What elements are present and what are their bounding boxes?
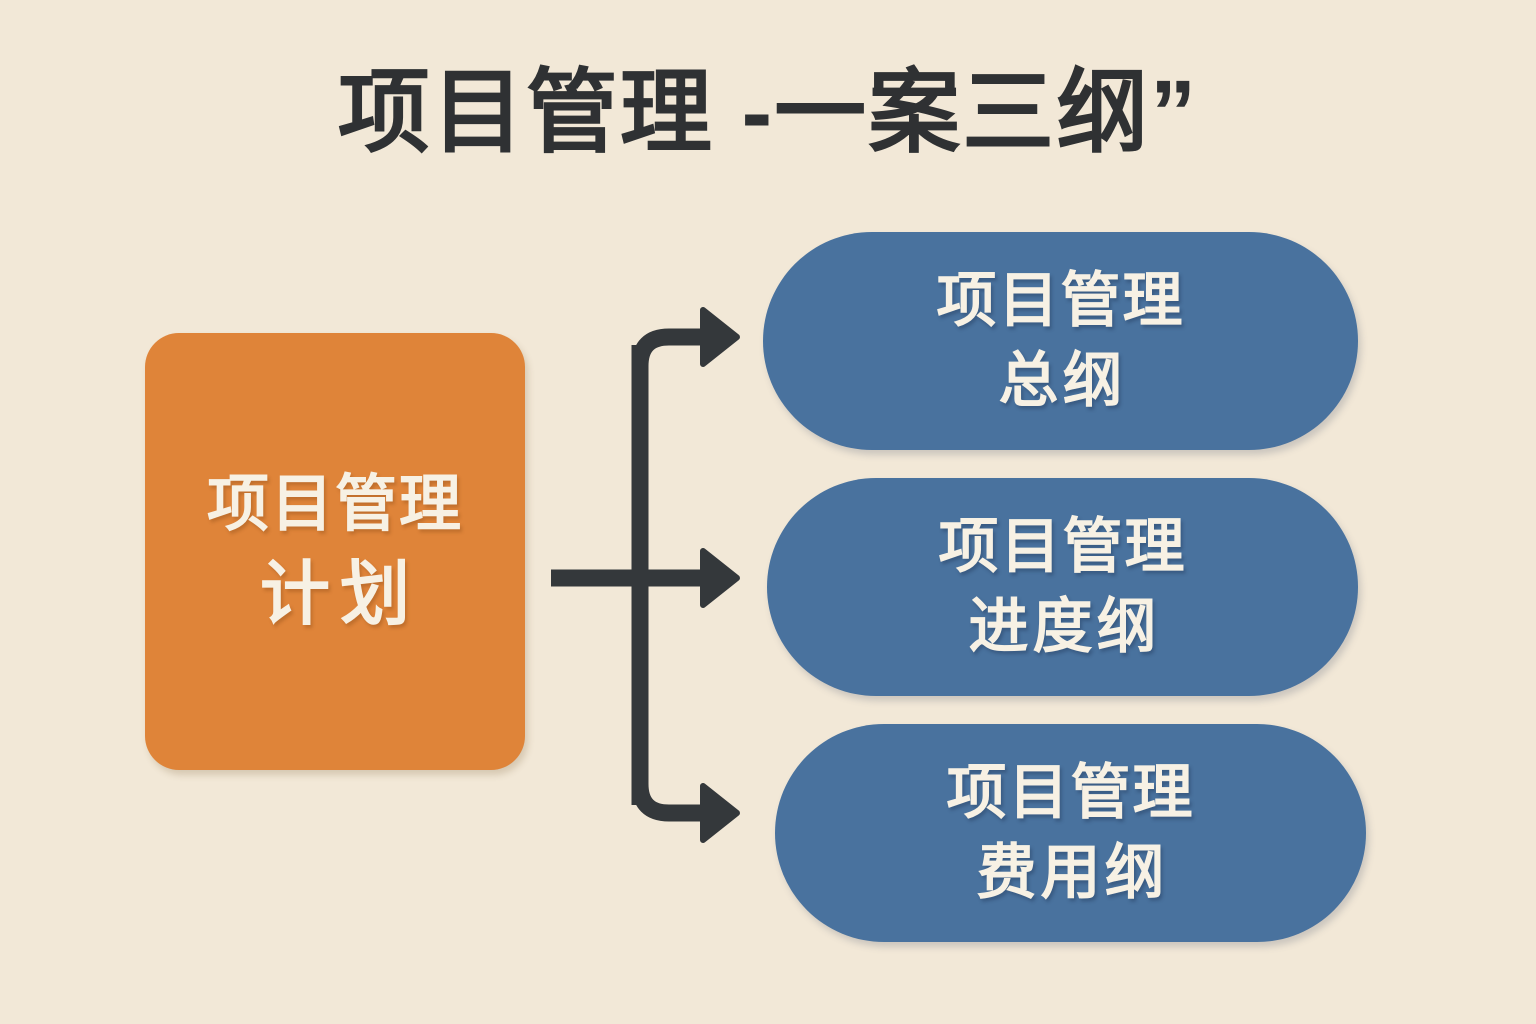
target-node-project-management-schedule-outline[interactable]: 项目管理 进度纲 — [767, 478, 1358, 696]
target-node-project-management-general-outline[interactable]: 项目管理 总纲 — [763, 232, 1358, 450]
target-node-label-line-1: 项目管理 — [939, 507, 1187, 587]
connector-branch-bottom — [640, 784, 706, 813]
arrowhead-bottom-icon — [703, 786, 737, 840]
target-node-label-line-1: 项目管理 — [947, 753, 1195, 833]
source-node-label-line-2: 计划 — [250, 547, 420, 641]
diagram-canvas: 项目管理 -一案三纲” 项目管理 计划 项目管理 总纲 项目管理 — [0, 0, 1536, 1024]
arrowhead-middle-icon — [703, 551, 737, 605]
connector-branch-top — [640, 337, 706, 366]
arrowhead-top-icon — [703, 310, 737, 364]
target-node-label-line-2: 进度纲 — [965, 587, 1161, 667]
target-node-project-management-cost-outline[interactable]: 项目管理 费用纲 — [775, 724, 1366, 942]
target-node-label-line-2: 总纲 — [995, 341, 1127, 421]
source-node-project-management-plan[interactable]: 项目管理 计划 — [145, 333, 525, 770]
target-node-label-line-1: 项目管理 — [937, 261, 1185, 341]
source-node-label-line-1: 项目管理 — [207, 463, 463, 547]
target-node-label-line-2: 费用纲 — [973, 833, 1169, 913]
page-title: 项目管理 -一案三纲” — [0, 58, 1536, 168]
